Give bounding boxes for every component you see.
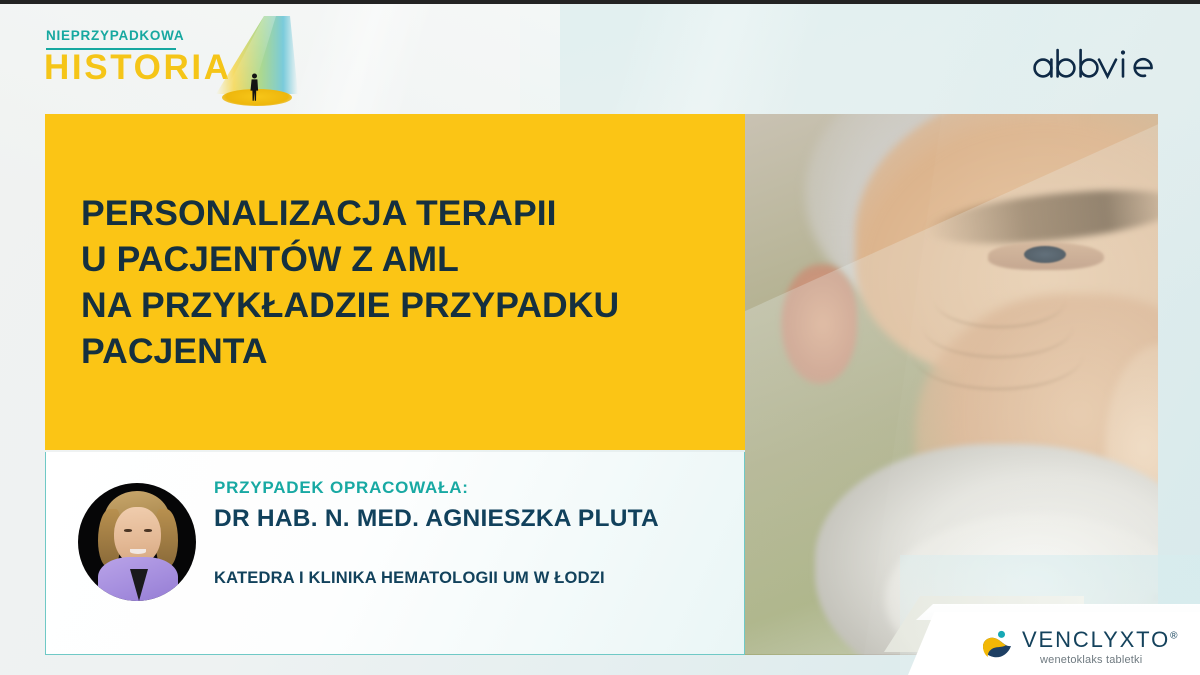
title-panel: PERSONALIZACJA TERAPII U PACJENTÓW Z AML…	[45, 114, 745, 450]
top-divider-rule	[0, 0, 1200, 4]
venclyxto-swirl-icon	[980, 630, 1014, 660]
presenter-name: DR HAB. N. MED. AGNIESZKA PLUTA	[214, 505, 659, 533]
slide-canvas: NIEPRZYPADKOWA HISTORIA	[0, 0, 1200, 675]
presenter-affiliation: KATEDRA I KLINIKA HEMATOLOGII UM W ŁODZI	[214, 569, 605, 588]
brand-logo: NIEPRZYPADKOWA HISTORIA	[42, 24, 312, 106]
page-title: PERSONALIZACJA TERAPII U PACJENTÓW Z AML…	[81, 190, 727, 375]
brand-kicker: NIEPRZYPADKOWA	[46, 28, 184, 43]
avatar-eye	[124, 529, 132, 532]
product-logo: VENCLYXTO® wenetoklaks tabletki	[980, 626, 1190, 670]
presenter-panel: PRZYPADEK OPRACOWAŁA: DR HAB. N. MED. AG…	[45, 452, 745, 655]
product-name: VENCLYXTO®	[1022, 629, 1177, 651]
presenter-kicker: PRZYPADEK OPRACOWAŁA:	[214, 478, 469, 498]
photo-ear	[781, 264, 857, 384]
patient-photo	[745, 114, 1158, 655]
photo-eye	[988, 242, 1104, 270]
avatar	[78, 483, 196, 601]
avatar-mouth	[130, 549, 146, 554]
spotlight-stage-icon	[194, 2, 314, 114]
registered-mark: ®	[1170, 631, 1177, 642]
photo-wrinkle	[913, 320, 1083, 390]
product-subtitle: wenetoklaks tabletki	[1040, 654, 1142, 666]
avatar-eye	[144, 529, 152, 532]
abbvie-logo	[1032, 44, 1154, 82]
person-silhouette-icon	[250, 73, 259, 101]
